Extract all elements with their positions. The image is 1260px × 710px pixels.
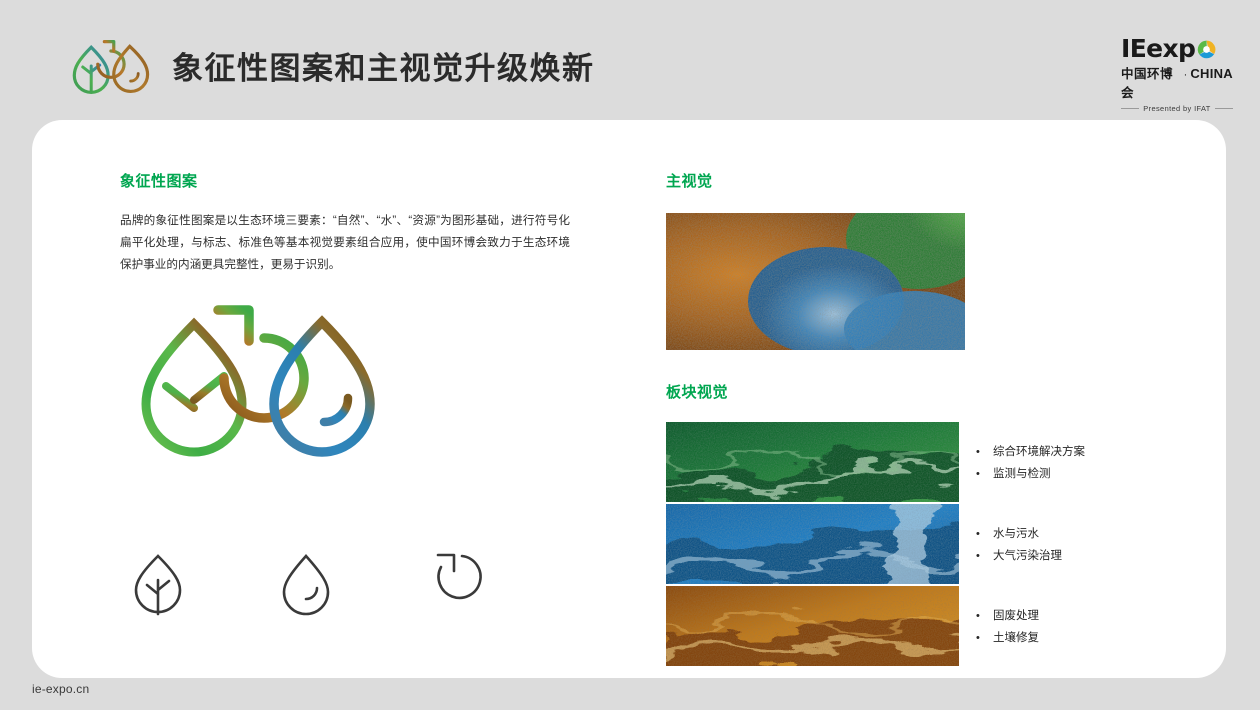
bullet-label: 固废处理 bbox=[993, 605, 1039, 627]
list-item: • 固废处理 bbox=[976, 605, 1039, 627]
bullet-glyph: • bbox=[976, 627, 993, 649]
section-band-list: • 综合环境解决方案 • 监测与检测 bbox=[666, 422, 1206, 666]
eco-trio-textured-mark-icon bbox=[132, 300, 402, 500]
bullet-glyph: • bbox=[976, 441, 993, 463]
hero-visual-image bbox=[666, 213, 965, 350]
sections-heading: 板块视觉 bbox=[666, 381, 1206, 402]
bullet-label: 土壤修复 bbox=[993, 627, 1039, 649]
list-item: • 综合环境解决方案 bbox=[976, 441, 1085, 463]
list-item: • 水与污水 bbox=[976, 523, 1062, 545]
brand-presented-by: Presented by IFAT bbox=[1143, 104, 1210, 113]
bullet-label: 水与污水 bbox=[993, 523, 1039, 545]
brand-presented-row: Presented by IFAT bbox=[1121, 104, 1233, 113]
bullet-label: 综合环境解决方案 bbox=[993, 441, 1085, 463]
bullet-label: 大气污染治理 bbox=[993, 545, 1062, 567]
brand-wordmark: IEexp bbox=[1121, 36, 1195, 61]
section-1-bullets: • 综合环境解决方案 • 监测与检测 bbox=[976, 440, 1085, 485]
section-row-3: • 固废处理 • 土壤修复 bbox=[666, 586, 1206, 666]
left-section-heading: 象征性图案 bbox=[120, 170, 590, 191]
hero-section-heading: 主视觉 bbox=[666, 170, 1206, 191]
left-column: 象征性图案 品牌的象征性图案是以生态环境三要素：“自然”、“水”、“资源”为图形… bbox=[120, 170, 590, 276]
bullet-glyph: • bbox=[976, 545, 993, 567]
slide-root: 象征性图案和主视觉升级焕新 IEexp 中国环博会 · CHINA bbox=[0, 0, 1260, 710]
bullet-glyph: • bbox=[976, 463, 993, 485]
eco-trio-mark-icon bbox=[62, 36, 158, 98]
divider-right bbox=[1215, 108, 1233, 109]
green-texture-band-image bbox=[666, 422, 959, 502]
content-card: 象征性图案 品牌的象征性图案是以生态环境三要素：“自然”、“水”、“资源”为图形… bbox=[32, 120, 1226, 678]
brand-wordmark-row: IEexp bbox=[1121, 35, 1233, 61]
bullet-glyph: • bbox=[976, 605, 993, 627]
brand-chinese-name: 中国环博会 bbox=[1121, 63, 1181, 101]
bullet-label: 监测与检测 bbox=[993, 463, 1051, 485]
list-item: • 土壤修复 bbox=[976, 627, 1039, 649]
footer-url: ie-expo.cn bbox=[32, 682, 89, 696]
left-body-paragraph: 品牌的象征性图案是以生态环境三要素：“自然”、“水”、“资源”为图形基础，进行符… bbox=[120, 210, 570, 276]
brand-separator: · bbox=[1184, 69, 1188, 81]
brand-subtitle-row: 中国环博会 · CHINA bbox=[1121, 63, 1233, 101]
ieexpo-brand-logo: IEexp 中国环博会 · CHINA Presented by IFAT bbox=[1121, 35, 1233, 91]
divider-left bbox=[1121, 108, 1139, 109]
recycle-arrow-icon bbox=[423, 550, 485, 618]
circular-swirl-icon bbox=[1196, 39, 1217, 60]
blue-texture-band-image bbox=[666, 504, 959, 584]
symbol-icon-row bbox=[127, 550, 527, 618]
section-2-bullets: • 水与污水 • 大气污染治理 bbox=[976, 522, 1062, 567]
list-item: • 大气污染治理 bbox=[976, 545, 1062, 567]
leaf-icon bbox=[127, 550, 189, 618]
section-3-bullets: • 固废处理 • 土壤修复 bbox=[976, 604, 1039, 649]
brand-country: CHINA bbox=[1190, 66, 1233, 81]
section-row-1: • 综合环境解决方案 • 监测与检测 bbox=[666, 422, 1206, 502]
orange-texture-band-image bbox=[666, 586, 959, 666]
water-drop-icon bbox=[275, 550, 337, 618]
list-item: • 监测与检测 bbox=[976, 463, 1085, 485]
bullet-glyph: • bbox=[976, 523, 993, 545]
section-row-2: • 水与污水 • 大气污染治理 bbox=[666, 504, 1206, 584]
page-title: 象征性图案和主视觉升级焕新 bbox=[172, 43, 595, 88]
right-column: 主视觉 bbox=[666, 170, 1206, 668]
slide-header: 象征性图案和主视觉升级焕新 IEexp 中国环博会 · CHINA bbox=[0, 0, 1260, 120]
